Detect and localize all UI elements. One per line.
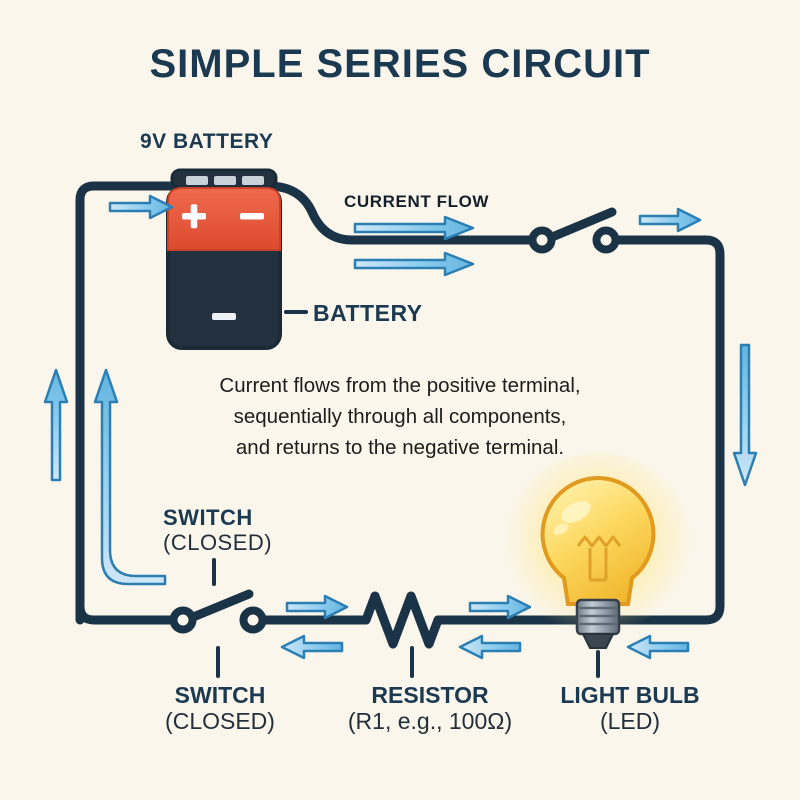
page-title: SIMPLE SERIES CIRCUIT	[0, 42, 800, 87]
battery	[168, 170, 280, 348]
bottom-label-switch-sub: (CLOSED)	[110, 708, 330, 734]
bottom-label-bulb-name: LIGHT BULB	[560, 682, 699, 708]
arrow-right-down	[734, 345, 756, 485]
bottom-label-switch-name: SWITCH	[175, 682, 266, 708]
switch-top-label: SWITCH (CLOSED)	[163, 506, 272, 555]
description-line-3: and returns to the negative terminal.	[150, 432, 650, 463]
bottom-label-bulb: LIGHT BULB (LED)	[520, 682, 740, 734]
battery-body-marker	[212, 313, 236, 320]
battery-minus-icon	[240, 213, 264, 220]
switch-bottom[interactable]	[174, 594, 263, 630]
wire-bottom-left	[80, 606, 183, 620]
resistor	[352, 596, 452, 644]
arrow-bottom-mid	[460, 636, 520, 658]
arrow-current-flow-lower	[355, 253, 473, 275]
bottom-label-resistor-name: RESISTOR	[371, 682, 488, 708]
switch-bottom-terminal-left	[174, 611, 193, 630]
arrow-left-up-inner	[45, 370, 67, 480]
bottom-label-resistor: RESISTOR (R1, e.g., 100Ω)	[310, 682, 550, 734]
bottom-label-bulb-sub: (LED)	[520, 708, 740, 734]
switch-top-terminal-left	[533, 231, 552, 250]
circuit-diagram: SIMPLE SERIES CIRCUIT 9V BATTERY CURRENT…	[0, 0, 800, 800]
switch-bottom-terminal-right	[244, 611, 263, 630]
current-flow-label: CURRENT FLOW	[344, 192, 489, 212]
bottom-label-resistor-sub: (R1, e.g., 100Ω)	[310, 708, 550, 734]
description-line-1: Current flows from the positive terminal…	[150, 370, 650, 401]
bottom-label-switch: SWITCH (CLOSED)	[110, 682, 330, 734]
description-line-2: sequentially through all components,	[150, 401, 650, 432]
arrow-bottom-right	[628, 636, 688, 658]
switch-top-state: (CLOSED)	[163, 531, 272, 556]
arrow-top-left	[110, 196, 172, 218]
arrow-resistor-right	[287, 596, 347, 618]
switch-top[interactable]	[533, 212, 616, 250]
arrow-top-right	[640, 209, 700, 231]
description-text: Current flows from the positive terminal…	[150, 370, 650, 463]
battery-heading-label: 9V BATTERY	[140, 130, 273, 154]
switch-top-name: SWITCH	[163, 506, 272, 531]
battery-callout-label: BATTERY	[313, 300, 423, 327]
arrow-bottom-left	[282, 636, 342, 658]
switch-top-terminal-right	[597, 231, 616, 250]
